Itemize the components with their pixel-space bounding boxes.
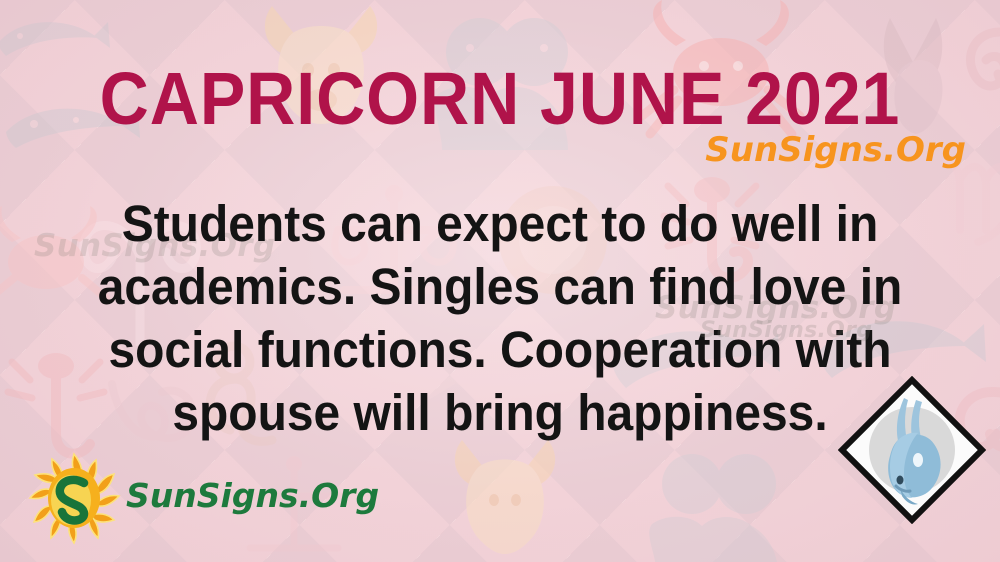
capricorn-badge [838,376,986,524]
body-line: academics. Singles can find love in [68,255,933,318]
brand-logo-block[interactable]: SunSigns.Org [26,450,379,546]
brand-wordmark-bottom: SunSigns.Org [126,476,379,515]
body-line: spouse will bring happiness. [68,381,933,444]
page-title: CAPRICORN JUNE 2021 [40,62,960,136]
body-line: Students can expect to do well in [68,192,933,255]
brand-wordmark-top: SunSigns.Org [705,130,966,170]
sun-logo-icon [26,450,122,546]
horoscope-poster: SunSigns.Org SunSigns.Org CAPRICORN JUNE… [0,0,1000,562]
watermark-sunsigns: SunSigns.Org [700,318,872,343]
